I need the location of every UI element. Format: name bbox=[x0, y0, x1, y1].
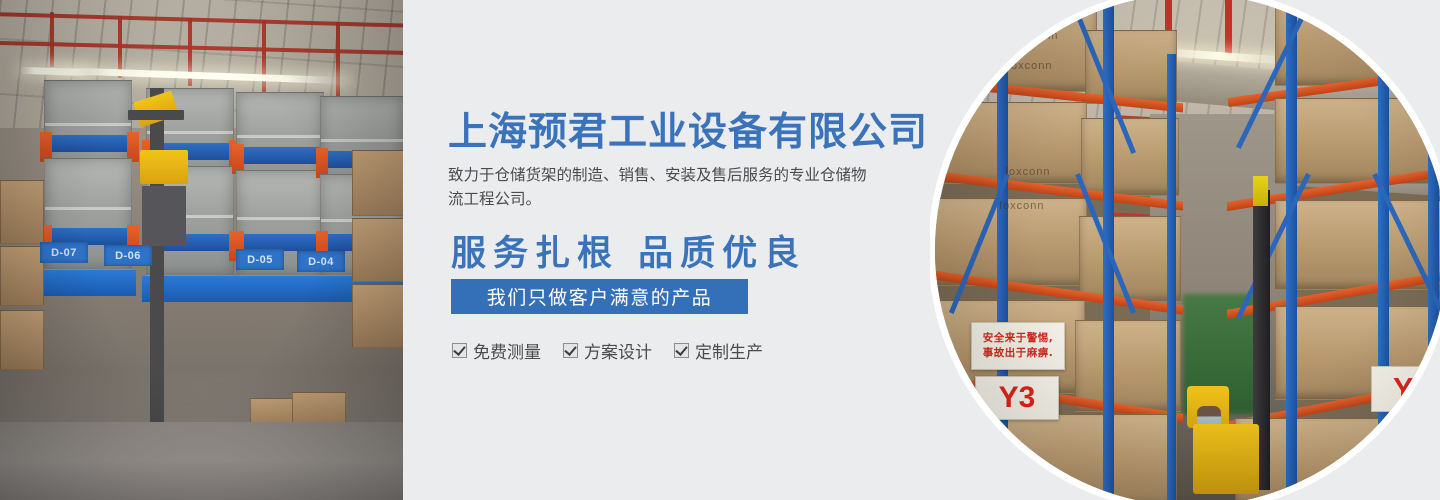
photo-vignette bbox=[935, 0, 1440, 500]
right-photo-wrapper: foxconn foxconn foxconn foxconn bbox=[930, 0, 1440, 500]
feature-label: 定制生产 bbox=[695, 338, 763, 363]
company-slogan: 服务扎根 品质优良 bbox=[451, 225, 806, 276]
company-subtitle: 致力于仓储货架的制造、销售、安装及售后服务的专业仓储物流工程公司。 bbox=[448, 163, 868, 211]
feature-label: 免费测量 bbox=[473, 338, 541, 363]
company-headline: 上海预君工业设备有限公司 bbox=[448, 101, 928, 157]
feature-item-solution-design: 方案设计 bbox=[563, 338, 652, 363]
left-warehouse-photo: D-07 D-06 D-05 D-04 bbox=[0, 0, 403, 500]
cta-button[interactable]: 我们只做客户满意的产品 bbox=[451, 279, 748, 314]
hero-banner: D-07 D-06 D-05 D-04 上海预君工业设备有限公司 致力于仓储货架… bbox=[0, 0, 1440, 500]
right-warehouse-photo-circle: foxconn foxconn foxconn foxconn bbox=[935, 0, 1440, 500]
feature-list: 免费测量 方案设计 定制生产 bbox=[452, 338, 763, 363]
checkbox-checked-icon bbox=[452, 343, 467, 358]
feature-item-free-measurement: 免费测量 bbox=[452, 338, 541, 363]
photo-vignette bbox=[0, 0, 403, 500]
feature-item-custom-production: 定制生产 bbox=[674, 338, 763, 363]
checkbox-checked-icon bbox=[563, 343, 578, 358]
feature-label: 方案设计 bbox=[584, 338, 652, 363]
checkbox-checked-icon bbox=[674, 343, 689, 358]
right-photo-inner: foxconn foxconn foxconn foxconn bbox=[935, 0, 1440, 500]
